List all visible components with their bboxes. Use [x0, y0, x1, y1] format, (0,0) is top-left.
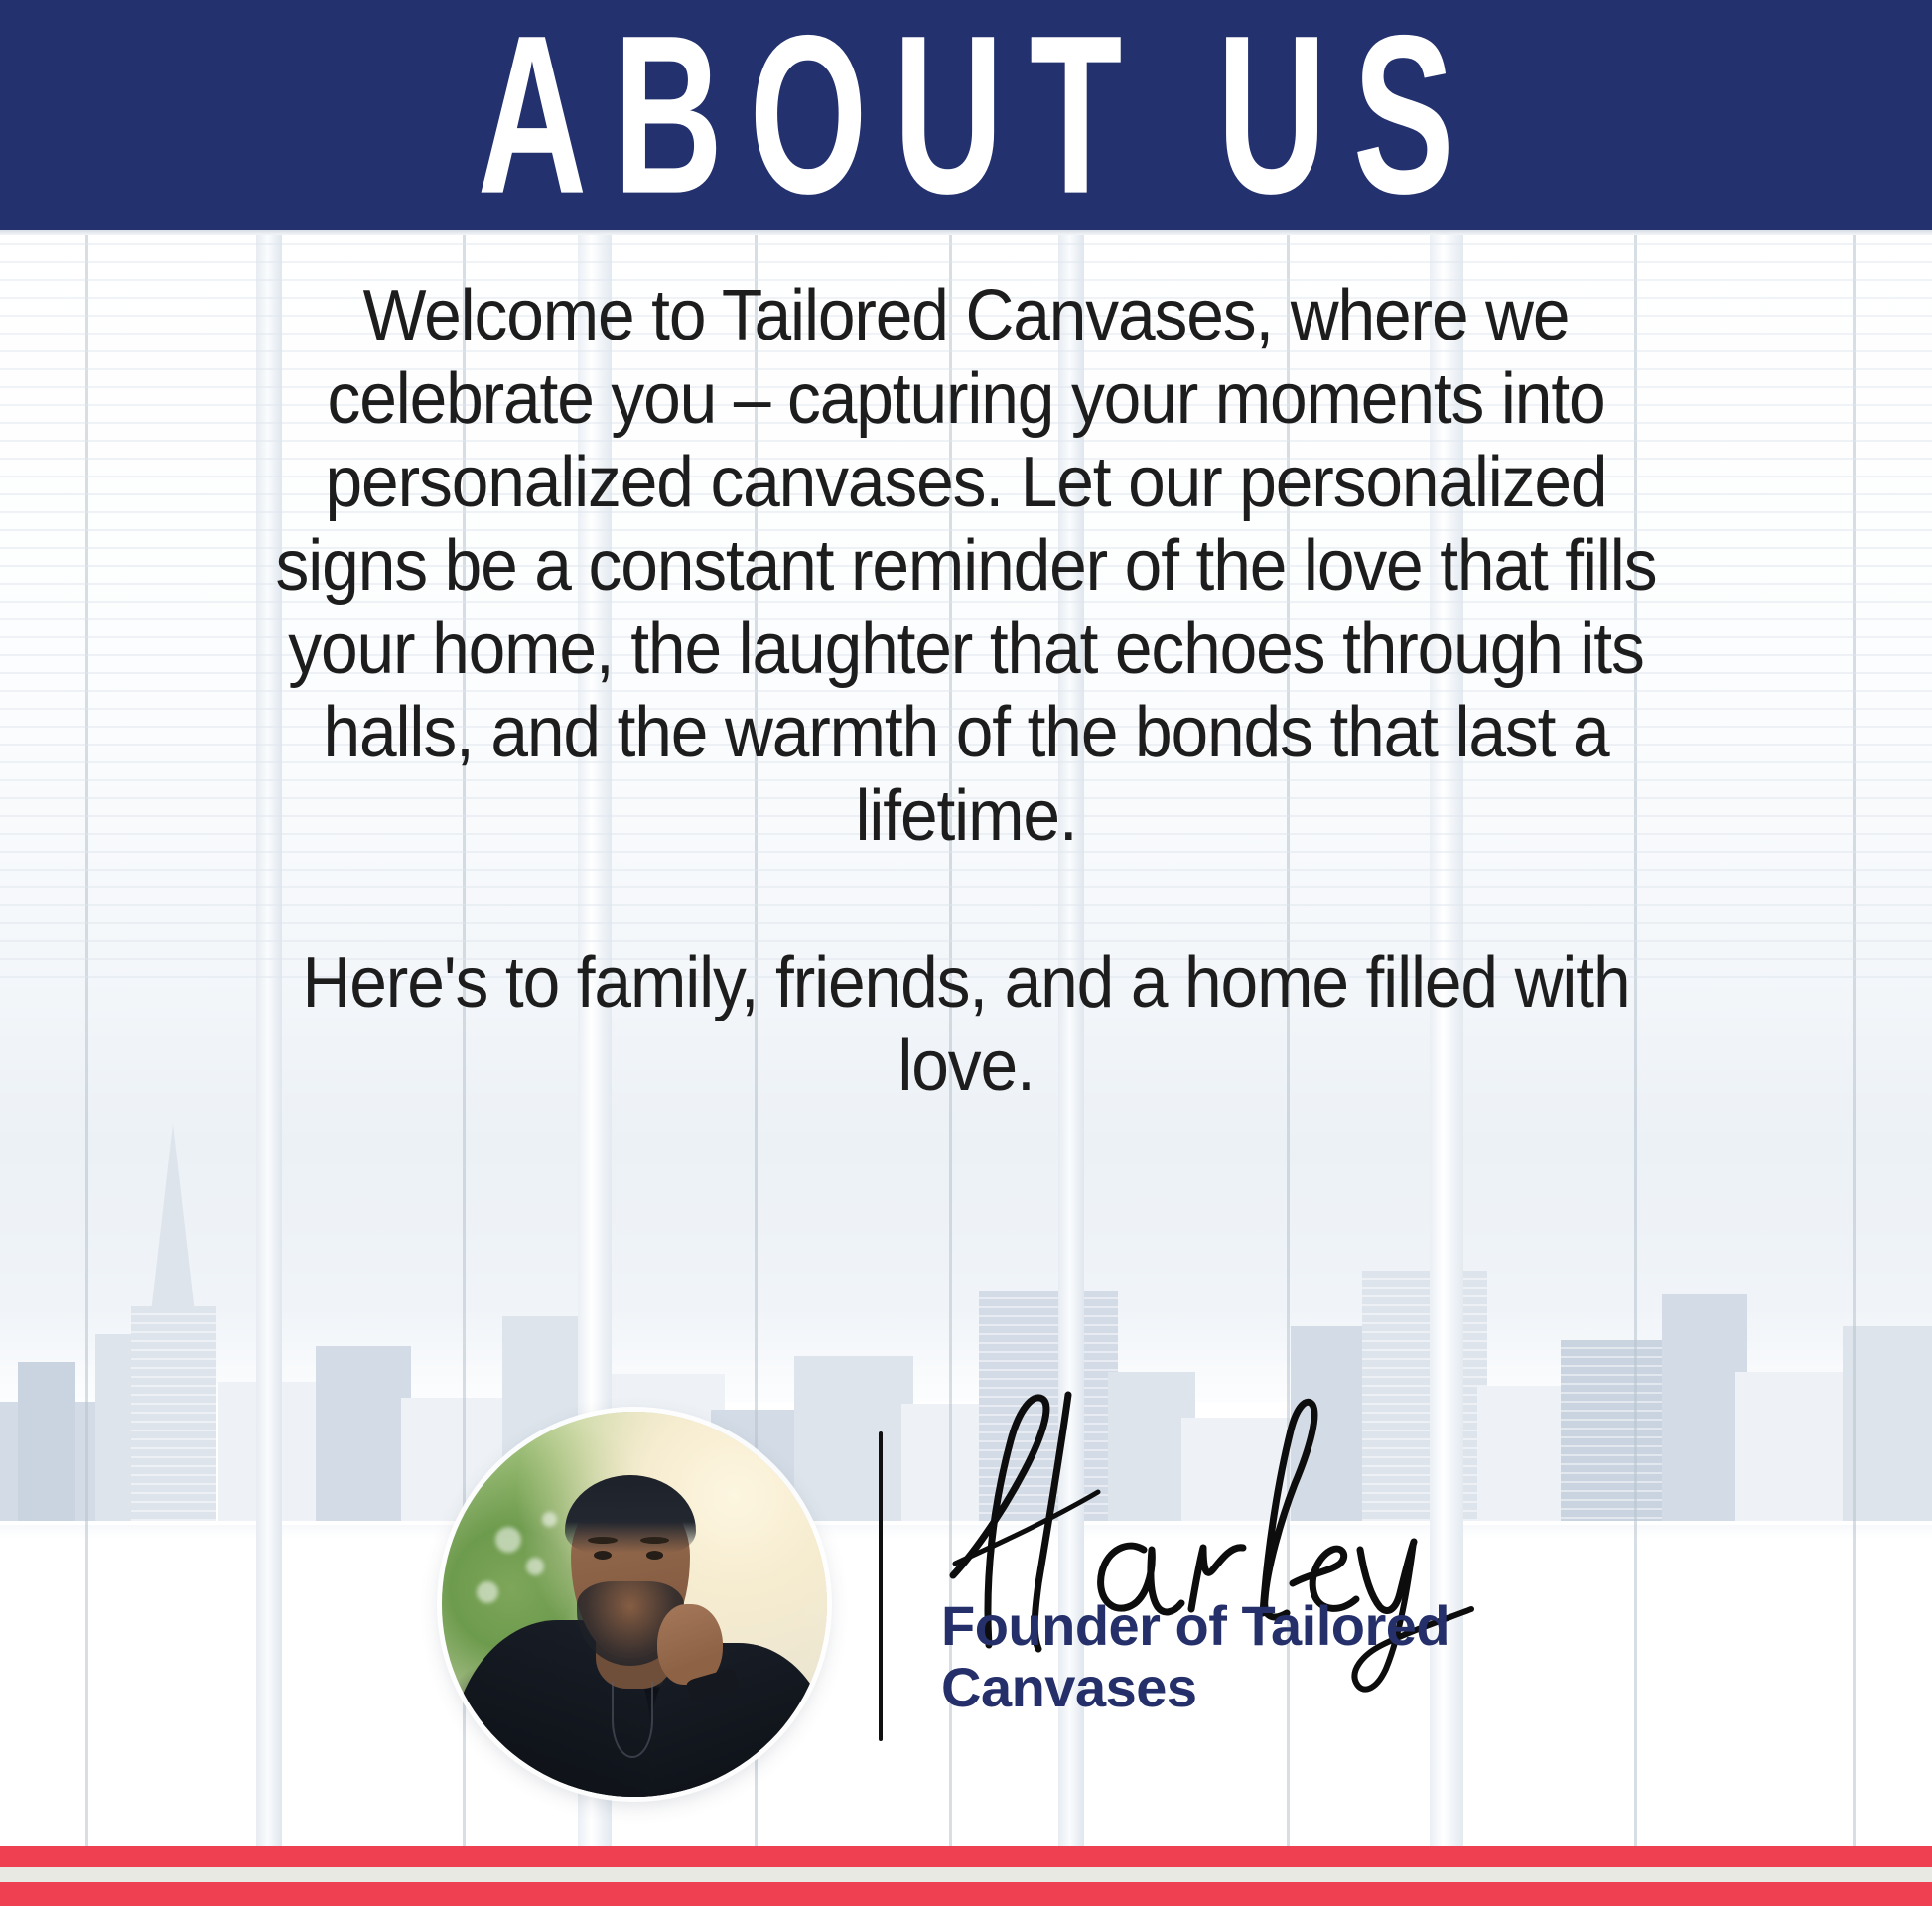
founder-block: Founder of Tailored Canvases [0, 1385, 1932, 1812]
header-banner: ABOUT US [0, 0, 1932, 230]
page-title: ABOUT US [451, 16, 1480, 214]
header-underline [0, 230, 1932, 235]
founder-role-line-1: Founder of Tailored [941, 1595, 1577, 1657]
about-paragraph-2: Here's to family, friends, and a home fi… [263, 941, 1669, 1108]
footer-stripe-gap [0, 1867, 1932, 1882]
paragraph-spacer [263, 858, 1669, 941]
avatar [442, 1412, 827, 1797]
about-paragraph-1: Welcome to Tailored Canvases, where we c… [263, 274, 1669, 858]
founder-role-line-2: Canvases [941, 1657, 1577, 1718]
founder-divider [879, 1431, 883, 1741]
about-copy: Welcome to Tailored Canvases, where we c… [58, 274, 1873, 1108]
about-us-poster: ABOUT US Welcome to Tailored Canvases, w… [0, 0, 1932, 1906]
footer-stripe-top [0, 1846, 1932, 1867]
footer-stripe-bottom [0, 1882, 1932, 1906]
founder-role: Founder of Tailored Canvases [941, 1595, 1577, 1718]
